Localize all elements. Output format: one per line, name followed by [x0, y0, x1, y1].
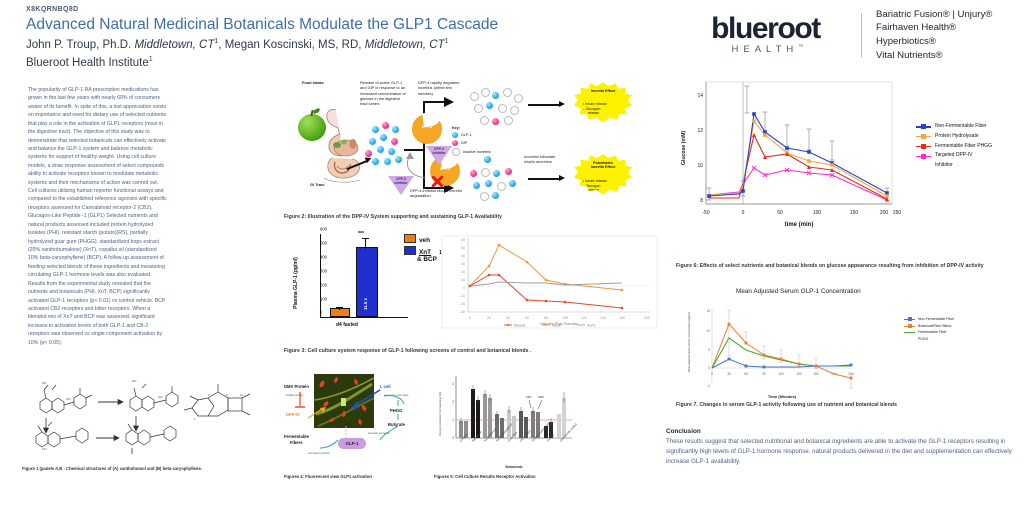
errorbar-xnt: [365, 238, 366, 249]
figure-1-structures: HOOHOH HOOH 13611: [22, 376, 274, 471]
poster-header: X8KQRNBQ8D Advanced Natural Medicinal Bo…: [26, 6, 666, 69]
bar-veh: [330, 308, 350, 317]
legend-row-f7-botanical-blend: Botanical/Fiber Blend: [904, 323, 954, 330]
logo-tm-icon: ™: [798, 44, 803, 50]
figure-7-title: Mean Adjusted Serum GLP-1 Concentration: [736, 288, 861, 295]
svg-text:60: 60: [525, 316, 529, 320]
svg-text:60: 60: [744, 372, 748, 376]
key-title: Key:: [452, 126, 491, 130]
svg-text:HO: HO: [42, 381, 47, 385]
svg-text:-50: -50: [702, 210, 709, 216]
figure-2-diagram: Food Intake GI Tract Release of active G…: [284, 78, 666, 210]
svg-text:3: 3: [452, 382, 454, 386]
page-title: Advanced Natural Medicinal Botanicals Mo…: [26, 15, 666, 34]
logo-divider: [861, 13, 862, 57]
glp1-secretion-line: [340, 426, 352, 440]
author-line: John P. Troup, Ph.D. Middletown, CT1, Me…: [26, 37, 666, 53]
author-two: , Megan Koscinski, MS, RD,: [218, 39, 364, 51]
gi-tract-illustration: [320, 106, 372, 184]
brand-item: Bariatric Fusion® | Unjury®: [876, 8, 992, 22]
svg-text:150: 150: [796, 372, 802, 376]
svg-text:15: 15: [706, 309, 710, 313]
legend-row-f7-non-fermentable: Non-Fermentable Fiber: [904, 316, 954, 323]
legend-label-xnt: XnT: [419, 249, 431, 256]
blueroot-logo: blueroot HEALTH™: [678, 15, 853, 56]
svg-text:50: 50: [461, 246, 465, 250]
figure-3-line-chart: 605040 302010 0-10-20-30 02040 6080100 1…: [442, 236, 657, 328]
legend-label-non-fermentable: Non-Fermentable Fiber: [935, 122, 987, 132]
svg-text:40: 40: [506, 316, 510, 320]
figure-5-bar-chart: 0123 Receptor-mediated Cell signaling, f…: [434, 372, 579, 472]
institute-name: Blueroot Health Institute: [26, 57, 149, 69]
svg-text:200: 200: [880, 210, 889, 216]
figure-5-caption: Figures 5: Cell Culture Results Receptor…: [434, 474, 536, 479]
label-increase-secretion: increase secretion: [308, 452, 330, 455]
svg-text:2: 2: [452, 400, 454, 404]
brand-list: Bariatric Fusion® | Unjury® Fairhaven He…: [876, 8, 992, 62]
svg-text:6: 6: [226, 393, 228, 397]
figure-6-svg: 1412108 -50050 100150200250 Glucose (mM)…: [676, 78, 906, 228]
svg-text:HO: HO: [132, 379, 137, 383]
key-glp1-label: GLP-1: [461, 133, 472, 137]
dpp4-label-bottom: DPP-4: [430, 167, 460, 171]
svg-text:-5: -5: [707, 384, 710, 388]
svg-text:8: 8: [700, 198, 703, 204]
conclusion-body: These results suggest that selected nutr…: [666, 437, 1018, 467]
svg-text:30: 30: [461, 262, 465, 266]
label-dmv-protein: DMV Protein: [284, 384, 309, 389]
svg-text:80: 80: [544, 316, 548, 320]
author-one-affil: Middletown, CT: [134, 39, 214, 51]
svg-text:OH: OH: [42, 447, 47, 451]
figure-7-svg: 151050-5 0306090 120150180 210240 Mean A…: [676, 302, 906, 406]
legend-swatch-fermentable-phgg: [916, 143, 931, 149]
legend-swatch-f7-fermentable-phgg: [904, 330, 915, 335]
author-two-affil: Middletown, CT: [365, 39, 445, 51]
logo-subtext-label: HEALTH: [732, 44, 799, 55]
l-cell-arrow: [346, 388, 382, 410]
svg-text:CB1: CB1: [526, 395, 532, 399]
figure-3-charts: Plasma GLP-1 (pg/ml) 0 100 200 300 400 5…: [284, 222, 666, 342]
brand-item: Hyperbiotics®: [876, 35, 992, 49]
conclusion-heading: Conclusion: [666, 428, 1018, 435]
svg-text:0: 0: [711, 372, 713, 376]
svg-text:0: 0: [463, 286, 465, 290]
label-fermentable-fibers-2: Fibers: [290, 440, 303, 445]
svg-text:time (min): time (min): [785, 222, 814, 228]
svg-text:0: 0: [742, 210, 745, 216]
svg-text:180: 180: [813, 372, 819, 376]
svg-text:0: 0: [452, 436, 454, 440]
bar-xnt-bcp: 11.5 x: [356, 247, 378, 317]
legend-label-fermentable-phgg: Fermentable Fiber PHGG: [935, 142, 992, 152]
svg-text:3: 3: [208, 393, 210, 397]
brand-item: Vital Nutrients®: [876, 49, 992, 63]
svg-text:Glucose (mM): Glucose (mM): [681, 131, 687, 166]
legend-row-targeted-dpp4: Targeted DPP-IV: [916, 151, 992, 161]
svg-text:150: 150: [850, 210, 859, 216]
key-gip-icon: [452, 140, 458, 146]
legend-row-f7-fermentable-phgg: Fermentable Fiber PHGG: [904, 329, 954, 342]
dpp4-label-top: DPP-4: [412, 125, 442, 129]
legend-label-protein-hydrolysate: Protein Hydrolysate: [935, 132, 979, 142]
svg-text:60: 60: [461, 238, 465, 242]
bar-inbar-label: 11.5 x: [363, 298, 368, 310]
figure-3-line-svg: 605040 302010 0-10-20-30 02040 6080100 1…: [442, 236, 657, 328]
svg-text:OH: OH: [66, 397, 71, 401]
legend-swatch-protein-hydrolysate: [916, 134, 931, 140]
svg-text:Mean Adjusted Serum GLP-1 Conc: Mean Adjusted Serum GLP-1 Concentration …: [687, 312, 691, 372]
figure-6-legend: Non-Fermentable Fiber Protein Hydrolysat…: [916, 122, 992, 171]
significance-marker: ***: [358, 231, 364, 237]
svg-text:11: 11: [240, 393, 243, 397]
document-id: X8KQRNBQ8D: [26, 6, 666, 13]
svg-text:1: 1: [194, 417, 196, 421]
figure-7-glp1-chart: Mean Adjusted Serum GLP-1 Concentration …: [676, 300, 1021, 418]
incretin-effect-burst: Incretin Effect • Insulin release – Gluc…: [574, 82, 632, 126]
label-gi-tract: GI Tract: [310, 182, 325, 187]
potentiates-title: Potentiates Incretin Effect: [574, 161, 632, 170]
figure-3-legend: veh XnT1 & BCP: [404, 234, 442, 263]
potentiates-title-2: Incretin Effect: [574, 165, 632, 169]
incretin-effect-line1: • Insulin release: [583, 102, 607, 107]
incretin-effect-title: Incretin Effect: [574, 89, 632, 93]
potentiates-line3: release: [583, 188, 607, 193]
svg-text:20: 20: [461, 270, 465, 274]
svg-text:CB2: CB2: [538, 395, 544, 399]
brand-item: Fairhaven Health®: [876, 21, 992, 35]
svg-text:5: 5: [708, 348, 710, 352]
label-release: Release of active GLP-1 and GIP in respo…: [360, 80, 408, 106]
legend-label-f7-non-fermentable: Non-Fermentable Fiber: [918, 316, 954, 323]
svg-text:120: 120: [581, 316, 587, 320]
conclusion-block: Conclusion These results suggest that se…: [666, 428, 1018, 467]
svg-text:120: 120: [778, 372, 784, 376]
svg-text:90: 90: [762, 372, 766, 376]
svg-text:100: 100: [562, 316, 568, 320]
arrow-to-incretin-effect: [528, 104, 560, 106]
author-two-sup: 1: [445, 37, 449, 45]
figure-4-fluorescent: DMV Protein inhibits activity DPP-IV L c…: [284, 372, 434, 472]
figure-5-xlabel: Botanicals: [505, 465, 522, 469]
label-fermentable-fibers-1: Fermentable: [284, 434, 309, 439]
key-glp1-icon: [452, 132, 458, 138]
blocked-x-icon: [430, 174, 445, 189]
svg-text:0: 0: [708, 366, 710, 370]
svg-text:40: 40: [461, 254, 465, 258]
potentiates-lines: • Insulin release – Glucagon release: [583, 179, 607, 193]
errorbar-veh: [339, 307, 340, 310]
svg-text:14: 14: [697, 93, 703, 99]
legend-row-fermentable-phgg: Fermentable Fiber PHGG: [916, 142, 992, 152]
diagram-key: Key: GLP-1 GIP Inactive Incretins: [452, 126, 491, 156]
svg-text:10: 10: [461, 278, 465, 282]
figure-7-caption: Figure 7. Changes in serum GLP-1 activit…: [676, 402, 1021, 408]
svg-text:50: 50: [777, 210, 783, 216]
svg-text:Glucose: Glucose: [514, 323, 526, 327]
legend-label-f7-fermentable-phgg: Fermentable Fiber PHGG: [918, 329, 952, 342]
svg-text:10: 10: [697, 163, 703, 169]
key-gip-label: GIP: [461, 141, 467, 145]
svg-text:Time (Minutes): Time (Minutes): [768, 394, 797, 399]
legend-swatch-veh: [404, 234, 416, 243]
author-one: John P. Troup, Ph.D.: [26, 39, 134, 51]
legend-label-bcp: & BCP: [417, 256, 442, 263]
legend-label-f7-botanical-blend: Botanical/Fiber Blend: [918, 323, 951, 330]
dpp4-enzyme-icon-top: DPP-4: [412, 114, 442, 144]
figure-2-caption: Figure 2: Illustration of the DPP-IV Sys…: [284, 214, 502, 220]
figure-6-caption: Figure 6: Effects of select nutrients an…: [676, 263, 1021, 269]
figure-3-y-axis: [320, 234, 321, 318]
figure-5-svg: 0123 Receptor-mediated Cell signaling, f…: [434, 372, 579, 472]
svg-text:-20: -20: [460, 302, 465, 306]
svg-text:250: 250: [893, 210, 902, 216]
potentiates-effect-burst: Potentiates Incretin Effect • Insulin re…: [574, 154, 632, 198]
logo-wordmark: blueroot: [678, 15, 853, 44]
figure-7-legend: Non-Fermentable Fiber Botanical/Fiber Bl…: [904, 316, 954, 343]
svg-text:-10: -10: [460, 294, 465, 298]
figure-3-x-axis: [320, 317, 408, 318]
svg-text:200: 200: [644, 316, 650, 320]
legend-row-non-fermentable: Non-Fermentable Fiber: [916, 122, 992, 132]
svg-text:Receptor-mediated Cell signali: Receptor-mediated Cell signaling, fold: [438, 392, 442, 436]
label-increase-secretion-2: increase secretion: [368, 432, 390, 435]
inhibitor-curve: [396, 150, 432, 182]
label-stimulate: Incretins stimulate insulin secretion: [524, 154, 560, 165]
svg-text:30: 30: [727, 372, 731, 376]
incretin-effect-line3: release: [583, 111, 607, 116]
figure-3-caption: Figure 3: Cell culture system response o…: [284, 348, 532, 354]
institute-sup: 1: [149, 55, 153, 63]
potentiates-line1: • Insulin release: [583, 179, 607, 184]
key-inactive-label: Inactive Incretins: [463, 150, 491, 154]
figure-3-bar-chart: Plasma GLP-1 (pg/ml) 0 100 200 300 400 5…: [294, 234, 412, 332]
svg-text:-30: -30: [460, 310, 465, 314]
legend-swatch-non-fermentable: [916, 124, 931, 130]
incretin-effect-lines: • Insulin release – Glucagon release: [583, 102, 607, 116]
legend-swatch-f7-botanical-blend: [904, 324, 915, 329]
svg-text:20: 20: [487, 316, 491, 320]
dpp4-arrow: [306, 406, 330, 422]
poster-canvas: X8KQRNBQ8D Advanced Natural Medicinal Bo…: [0, 0, 1024, 512]
key-inactive-icon: [452, 148, 460, 156]
label-blocks: DPP-4 inhibitor blocks incretin degradat…: [410, 188, 462, 199]
legend-label-veh: veh: [419, 237, 430, 244]
legend-spacer: [916, 163, 931, 169]
legend-row-protein-hydrolysate: Protein Hydrolysate: [916, 132, 992, 142]
svg-text:1: 1: [452, 418, 454, 422]
figure-6-glucose-chart: 1412108 -50050 100150200250 Glucose (mM)…: [676, 78, 1021, 238]
label-food-intake: Food Intake: [302, 80, 324, 85]
abstract-text: The popularity of GLP-1 RA prescription …: [28, 86, 168, 347]
svg-text:10: 10: [706, 329, 710, 333]
figure-3-ylabel: Plasma GLP-1 (pg/ml): [293, 257, 299, 309]
arrow-to-potentiates: [528, 178, 560, 180]
legend-label-inhibitor: Inhibitor: [935, 161, 953, 171]
legend-swatch-targeted-dpp4: [916, 153, 931, 159]
svg-text:OH: OH: [158, 395, 163, 399]
svg-text:GLP1: GLP1: [587, 323, 595, 327]
legend-label-targeted-dpp4: Targeted DPP-IV: [935, 151, 973, 161]
legend-swatch-xnt: [404, 246, 416, 255]
legend-row-inhibitor: Inhibitor: [916, 161, 992, 171]
logo-subtext: HEALTH™: [678, 44, 853, 55]
figure-4-caption: Figures 4: Fluorescent view GLP1 activat…: [284, 474, 372, 479]
brand-logo-block: blueroot HEALTH™ Bariatric Fusion® | Unj…: [678, 6, 1018, 64]
svg-text:100: 100: [813, 210, 822, 216]
legend-swatch-f7-non-fermentable: [904, 317, 915, 322]
svg-text:160: 160: [619, 316, 625, 320]
institute-line: Blueroot Health Institute1: [26, 55, 666, 69]
chemical-structure-svg: HOOHOH HOOH 13611: [22, 376, 274, 454]
figure-1-caption: Figure 1 (panels A,B : Chemical structur…: [22, 466, 272, 471]
svg-text:Chamomile extract: Chamomile extract: [559, 422, 578, 443]
svg-text:0: 0: [469, 316, 471, 320]
figure-3-xlabel: d4 fasted: [336, 322, 358, 328]
svg-text:140: 140: [600, 316, 606, 320]
svg-text:Insulin: Insulin: [552, 323, 561, 327]
svg-text:12: 12: [697, 128, 703, 134]
